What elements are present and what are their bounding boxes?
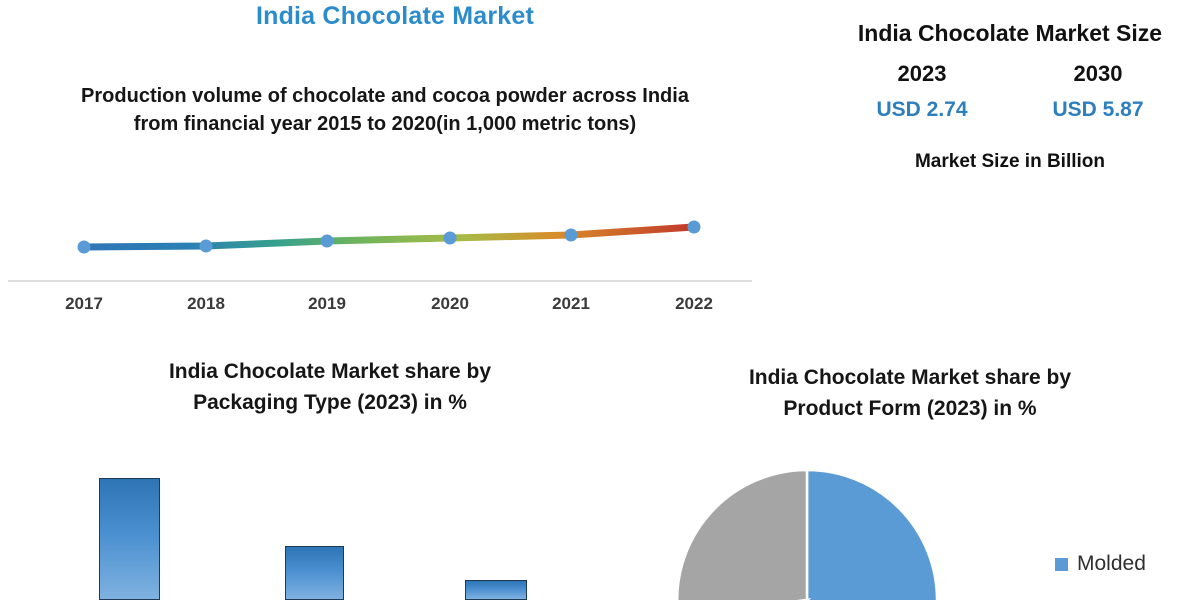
infographic-page: India Chocolate Market Production volume… bbox=[0, 0, 1200, 600]
market-size-col-2030: 2030 USD 5.87 bbox=[1010, 59, 1186, 125]
product-form-pie-chart bbox=[640, 430, 1000, 600]
market-size-value-2030: USD 5.87 bbox=[1010, 95, 1186, 125]
bar-item bbox=[99, 478, 160, 600]
market-size-panel: India Chocolate Market Size 2023 USD 2.7… bbox=[820, 18, 1200, 173]
x-axis-tick-2017: 2017 bbox=[49, 294, 119, 314]
market-size-title: India Chocolate Market Size bbox=[820, 18, 1200, 49]
pie-chart-legend: Molded bbox=[1055, 552, 1146, 576]
title-clip-band bbox=[0, 330, 620, 361]
line-data-point bbox=[444, 232, 457, 245]
legend-label-molded: Molded bbox=[1077, 552, 1146, 576]
bar-item bbox=[285, 546, 344, 600]
bar-item bbox=[465, 580, 527, 600]
bar-chart-title-line2: Packaging Type (2023) in % bbox=[40, 387, 620, 418]
line-data-point bbox=[688, 221, 701, 234]
line-series-path bbox=[84, 227, 694, 247]
line-data-point bbox=[200, 240, 213, 253]
market-size-row: 2023 USD 2.74 2030 USD 5.87 bbox=[820, 59, 1200, 125]
x-axis-tick-2018: 2018 bbox=[171, 294, 241, 314]
market-size-col-2023: 2023 USD 2.74 bbox=[834, 59, 1010, 125]
x-axis-tick-2021: 2021 bbox=[536, 294, 606, 314]
pie-slice-gray bbox=[677, 470, 807, 600]
market-size-value-2023: USD 2.74 bbox=[834, 95, 1010, 125]
line-chart-caption: Production volume of chocolate and cocoa… bbox=[60, 82, 710, 138]
pie-slice-molded bbox=[807, 470, 937, 600]
market-size-year-2023: 2023 bbox=[834, 59, 1010, 89]
pie-chart-title-line2: Product Form (2023) in % bbox=[650, 393, 1170, 424]
pie-chart-title-line1: India Chocolate Market share by bbox=[650, 362, 1170, 393]
pie-chart-svg bbox=[640, 430, 1000, 600]
x-axis-tick-2022: 2022 bbox=[659, 294, 729, 314]
line-data-point bbox=[565, 229, 578, 242]
legend-swatch-icon bbox=[1055, 558, 1068, 571]
x-axis-tick-2019: 2019 bbox=[292, 294, 362, 314]
market-size-year-2030: 2030 bbox=[1010, 59, 1186, 89]
line-data-point bbox=[78, 241, 91, 254]
page-title: India Chocolate Market bbox=[0, 0, 790, 32]
bar-chart-title: India Chocolate Market share by Packagin… bbox=[40, 356, 620, 418]
market-size-unit-note: Market Size in Billion bbox=[820, 151, 1200, 173]
pie-chart-title: India Chocolate Market share by Product … bbox=[650, 362, 1170, 424]
x-axis-tick-2020: 2020 bbox=[415, 294, 485, 314]
line-data-point bbox=[321, 235, 334, 248]
packaging-type-bar-chart bbox=[0, 430, 620, 600]
